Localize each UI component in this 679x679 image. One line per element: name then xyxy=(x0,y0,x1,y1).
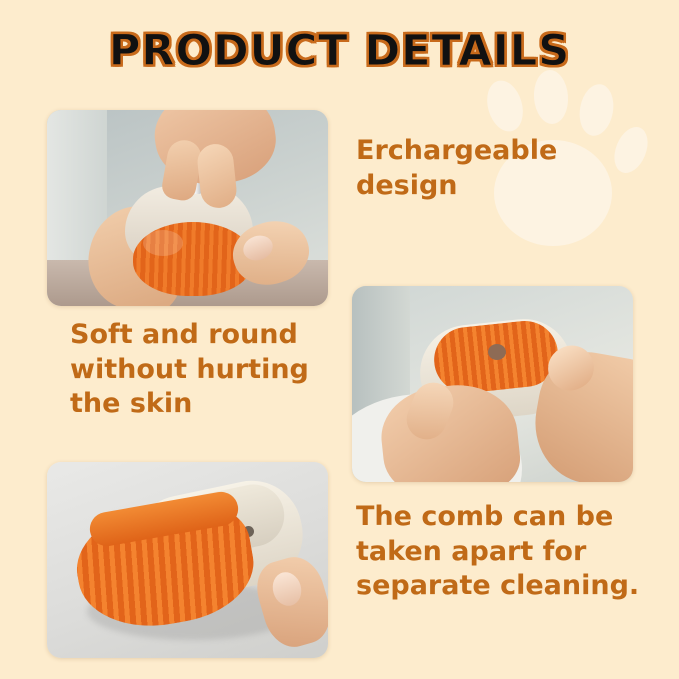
caption-rechargeable-design: Erchargeable design xyxy=(356,134,646,203)
caption-soft-and-round: Soft and round without hurting the skin xyxy=(70,318,340,422)
page-title: PRODUCT DETAILS xyxy=(0,26,679,76)
oval-brush-in-hands-photo xyxy=(352,286,633,482)
disassembled-comb-photo xyxy=(47,462,328,658)
caption-comb-taken-apart: The comb can be taken apart for separate… xyxy=(356,500,646,604)
product-details-infographic: PRODUCT DETAILS xyxy=(0,0,679,679)
round-brush-with-nozzle-photo xyxy=(47,110,328,306)
